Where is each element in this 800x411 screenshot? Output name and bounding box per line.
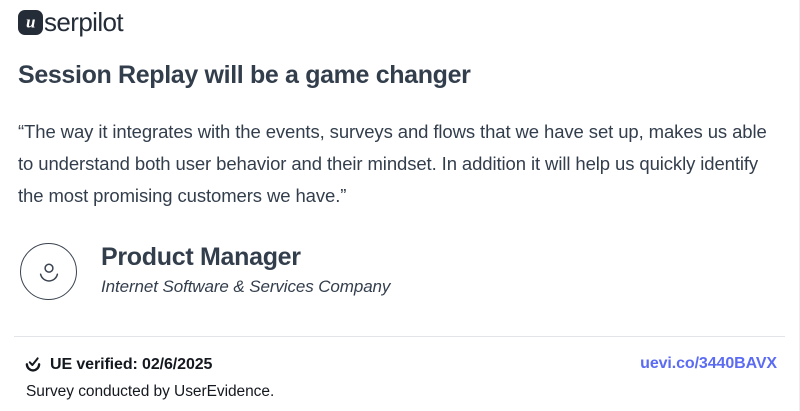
footer-verification: UE verified: 02/6/2025 Survey conducted …	[24, 355, 274, 402]
userpilot-logo-mark-icon: u	[18, 10, 43, 35]
attribution: Product Manager Internet Software & Serv…	[20, 243, 390, 300]
person-icon	[36, 261, 62, 283]
check-swoosh-icon	[24, 356, 42, 374]
survey-note: Survey conducted by UserEvidence.	[26, 383, 274, 402]
avatar	[20, 243, 77, 300]
verified-row: UE verified: 02/6/2025	[24, 355, 274, 375]
attribution-text: Product Manager Internet Software & Serv…	[101, 243, 390, 299]
attribution-company: Internet Software & Services Company	[101, 274, 390, 300]
userpilot-wordmark: serpilot	[44, 9, 123, 35]
attribution-role: Product Manager	[101, 243, 390, 272]
userpilot-logo: u serpilot	[18, 9, 123, 35]
verified-label: UE verified: 02/6/2025	[50, 357, 212, 373]
evidence-link[interactable]: uevi.co/3440BAVX	[640, 356, 777, 372]
logo-mark-letter: u	[26, 13, 35, 30]
footer-divider	[14, 336, 785, 337]
testimonial-quote: “The way it integrates with the events, …	[18, 116, 774, 212]
page-title: Session Replay will be a game changer	[18, 60, 471, 90]
testimonial-card: u serpilot Session Replay will be a game…	[0, 0, 800, 411]
